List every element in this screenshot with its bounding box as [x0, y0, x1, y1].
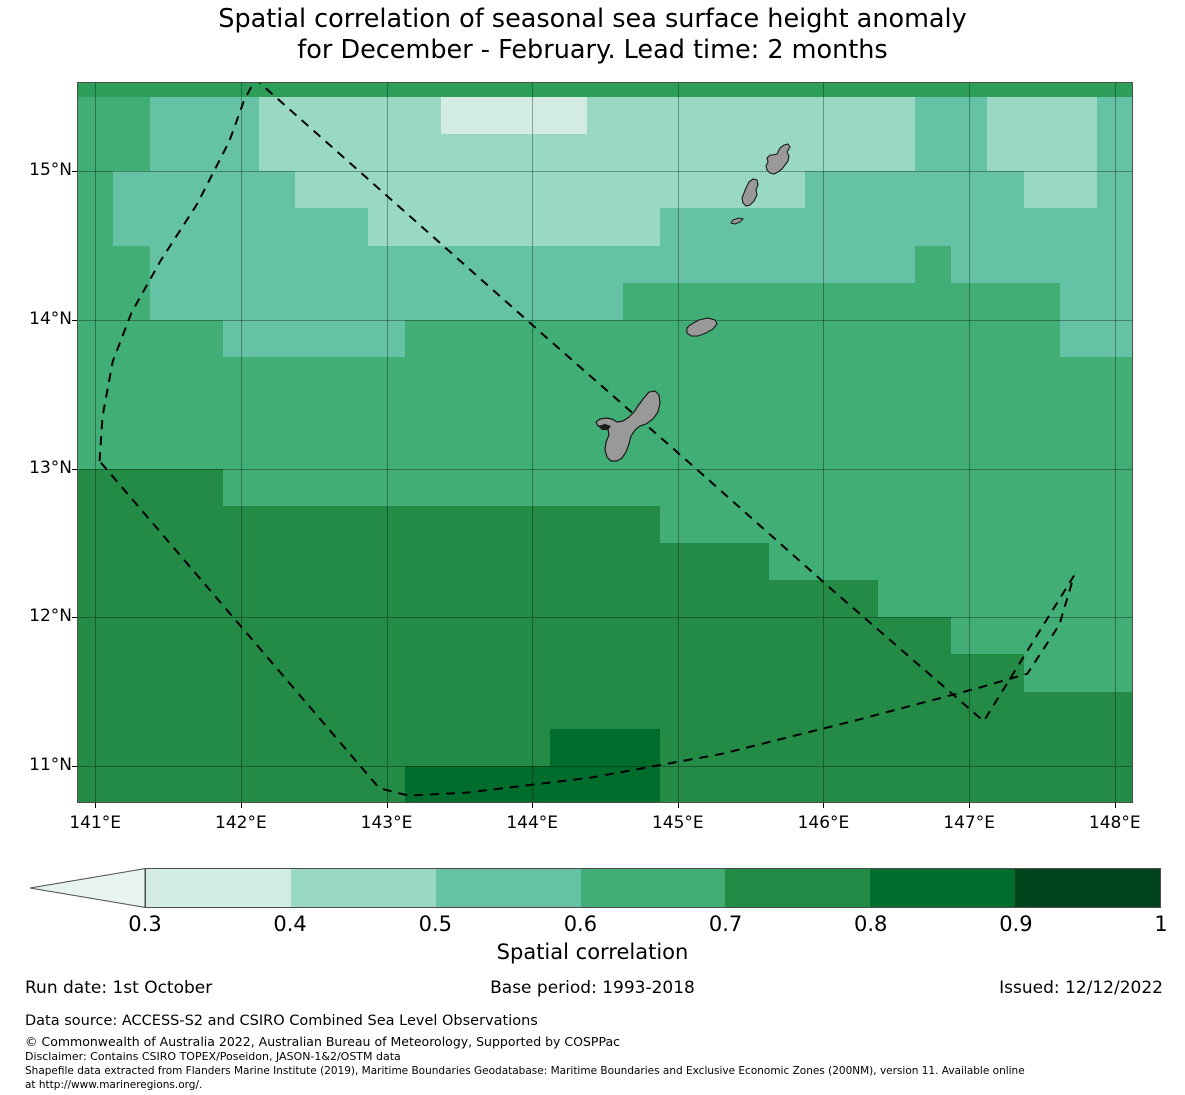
- x-axis-tick-label: 145°E: [618, 813, 738, 833]
- y-axis-tick-mark: [72, 320, 77, 321]
- issued-date-text: Issued: 12/12/2022: [999, 978, 1163, 998]
- metadata-row: Run date: 1st October Base period: 1993-…: [0, 978, 1185, 1004]
- island-aguijan: [731, 218, 743, 224]
- colorbar-segment: [436, 869, 581, 907]
- x-axis-tick-label: 141°E: [35, 813, 155, 833]
- x-axis-tick-mark: [823, 803, 824, 808]
- colorbar-segment: [725, 869, 870, 907]
- x-axis-tick-mark: [1115, 803, 1116, 808]
- shapefile-text-2: at http://www.marineregions.org/.: [25, 1078, 1170, 1092]
- colorbar-tick-label: 0.3: [128, 912, 161, 936]
- island-shapes: [596, 144, 790, 461]
- y-axis-tick-mark: [72, 171, 77, 172]
- title-line-1: Spatial correlation of seasonal sea surf…: [0, 4, 1185, 35]
- colorbar-segment: [146, 869, 291, 907]
- y-axis-tick-label: 13°N: [29, 458, 72, 478]
- y-axis-tick-mark: [72, 469, 77, 470]
- colorbar-label: Spatial correlation: [0, 940, 1185, 964]
- island-rota: [687, 318, 717, 336]
- page-title: Spatial correlation of seasonal sea surf…: [0, 4, 1185, 66]
- colorbar-tick-label: 1: [1154, 912, 1167, 936]
- x-axis-tick-mark: [387, 803, 388, 808]
- x-axis-tick-mark: [678, 803, 679, 808]
- colorbar-segment: [291, 869, 436, 907]
- x-axis-tick-mark: [95, 803, 96, 808]
- x-axis-tick-label: 148°E: [1055, 813, 1175, 833]
- x-axis-tick-mark: [241, 803, 242, 808]
- x-axis-tick-label: 144°E: [472, 813, 592, 833]
- copyright-text: © Commonwealth of Australia 2022, Austra…: [25, 1034, 1170, 1050]
- colorbar-segment: [1015, 869, 1160, 907]
- colorbar-segment: [581, 869, 726, 907]
- map-vector-overlay: [77, 82, 1133, 803]
- data-source-text: Data source: ACCESS-S2 and CSIRO Combine…: [25, 1012, 1170, 1031]
- eez-polygon: [100, 82, 1074, 796]
- colorbar-tick-label: 0.7: [709, 912, 742, 936]
- y-axis-tick-label: 12°N: [29, 606, 72, 626]
- footnotes: Data source: ACCESS-S2 and CSIRO Combine…: [25, 1012, 1170, 1092]
- y-axis-tick-label: 11°N: [29, 755, 72, 775]
- island-saipan: [766, 144, 790, 174]
- x-axis-tick-mark: [969, 803, 970, 808]
- colorbar: [145, 868, 1161, 908]
- y-axis-tick-label: 15°N: [29, 160, 72, 180]
- y-axis-tick-mark: [72, 617, 77, 618]
- island-tinian: [742, 179, 758, 206]
- shapefile-text-1: Shapefile data extracted from Flanders M…: [25, 1064, 1170, 1078]
- colorbar-tick-label: 0.8: [854, 912, 887, 936]
- colorbar-tick-label: 0.5: [419, 912, 452, 936]
- map-plot-area: [77, 82, 1133, 803]
- x-axis-tick-label: 146°E: [763, 813, 883, 833]
- title-line-2: for December - February. Lead time: 2 mo…: [0, 35, 1185, 66]
- x-axis-tick-label: 142°E: [181, 813, 301, 833]
- colorbar-tick-label: 0.9: [999, 912, 1032, 936]
- colorbar-under-arrow: [29, 868, 146, 908]
- x-axis-tick-mark: [532, 803, 533, 808]
- y-axis-tick-mark: [72, 766, 77, 767]
- eez-boundary-line: [100, 82, 1074, 796]
- colorbar-segment: [870, 869, 1015, 907]
- disclaimer-text: Disclaimer: Contains CSIRO TOPEX/Poseido…: [25, 1050, 1170, 1064]
- y-axis-tick-label: 14°N: [29, 309, 72, 329]
- x-axis-tick-label: 147°E: [909, 813, 1029, 833]
- colorbar-tick-label: 0.6: [564, 912, 597, 936]
- colorbar-region: 0.30.40.50.60.70.80.91 Spatial correlati…: [0, 868, 1185, 964]
- x-axis-tick-label: 143°E: [327, 813, 447, 833]
- colorbar-tick-label: 0.4: [273, 912, 306, 936]
